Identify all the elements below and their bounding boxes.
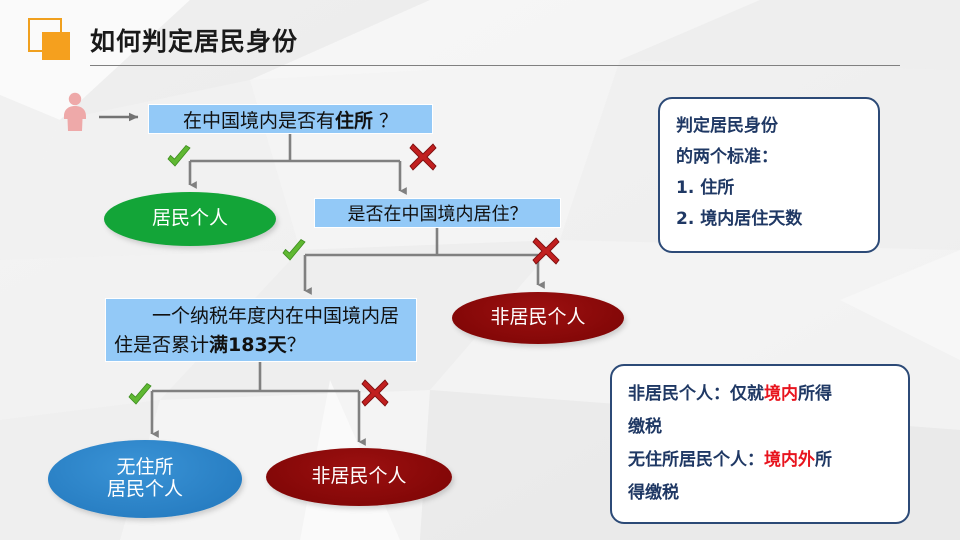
cross-mark-icon (408, 142, 438, 172)
outcome-nonresident-individual-2[interactable]: 非居民个人 (266, 448, 452, 506)
criteria-line-3: 1. 住所 (676, 173, 862, 204)
taxation-line-2: 缴税 (628, 411, 892, 444)
page-title: 如何判定居民身份 (90, 22, 298, 58)
taxation-line-3: 无住所居民个人：境内外所 (628, 444, 892, 477)
person-icon (62, 92, 88, 132)
highlight-domestic-foreign: 境内外 (764, 450, 815, 470)
decision-text-1: 在中国境内是否有住所 ？ (183, 106, 398, 133)
highlight-domestic: 境内 (764, 384, 798, 404)
outcome-label: 非居民个人 (490, 307, 585, 329)
slide-canvas: 如何判定居民身份 在中 (0, 0, 960, 540)
outcome-label: 非居民个人 (311, 466, 406, 488)
outcome-label: 无住所 居民个人 (107, 457, 183, 501)
decision-box-domicile[interactable]: 在中国境内是否有住所 ？ (148, 104, 433, 134)
outcome-resident-individual[interactable]: 居民个人 (104, 192, 276, 246)
outcome-nonresident-individual-1[interactable]: 非居民个人 (452, 292, 624, 344)
outcome-label: 居民个人 (152, 208, 228, 230)
criteria-panel: 判定居民身份 的两个标准： 1. 住所 2. 境内居住天数 (658, 97, 880, 253)
criteria-line-1: 判定居民身份 (676, 111, 862, 142)
cross-mark-icon (531, 236, 561, 266)
cross-mark-icon (360, 378, 390, 408)
title-square-filled (42, 32, 70, 60)
decision-box-183days[interactable]: 一个纳税年度内在中国境内居住是否累计满183天？ (105, 298, 417, 362)
decision-box-residence[interactable]: 是否在中国境内居住？ (314, 198, 561, 228)
criteria-line-4: 2. 境内居住天数 (676, 204, 862, 235)
check-mark-icon (279, 237, 309, 267)
title-divider (90, 65, 900, 66)
check-mark-icon (125, 381, 155, 411)
check-mark-icon (164, 143, 194, 173)
taxation-line-1: 非居民个人：仅就境内所得 (628, 378, 892, 411)
decision-text-3: 一个纳税年度内在中国境内居住是否累计满183天？ (114, 305, 399, 356)
decision-text-2: 是否在中国境内居住？ (348, 200, 528, 226)
criteria-line-2: 的两个标准： (676, 142, 862, 173)
outcome-label-line1: 无住所 (116, 456, 173, 478)
taxation-line-4: 得缴税 (628, 477, 892, 510)
taxation-panel: 非居民个人：仅就境内所得 缴税 无住所居民个人：境内外所 得缴税 (610, 364, 910, 524)
outcome-label-line2: 居民个人 (107, 478, 183, 500)
outcome-nondomiciled-resident-individual[interactable]: 无住所 居民个人 (48, 440, 242, 518)
